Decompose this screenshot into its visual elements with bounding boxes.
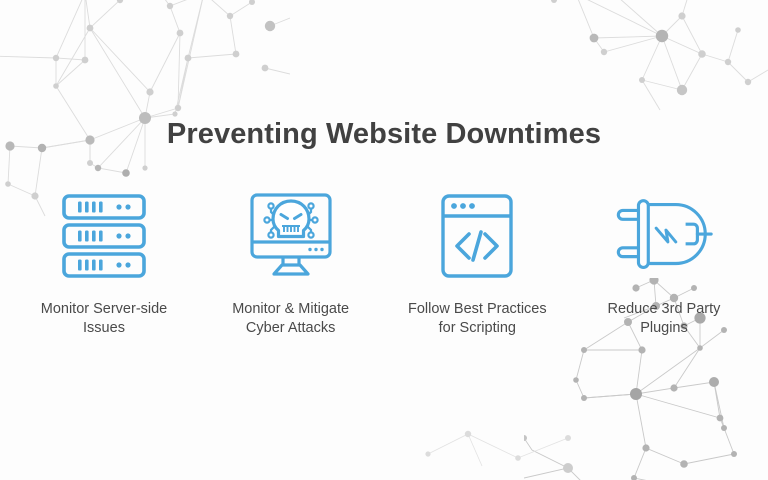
browser-code-window-icon [422, 186, 532, 286]
page-title: Preventing Website Downtimes [0, 118, 768, 151]
server-racks-icon [49, 186, 159, 286]
skull-monitor-cyber-attack-icon [236, 186, 346, 286]
feature-card-monitor-mitigate-cyber-attacks[interactable]: Monitor & Mitigate Cyber Attacks [203, 186, 379, 339]
feature-card-label: Monitor Server-side Issues [41, 300, 168, 339]
feature-card-label: Follow Best Practices for Scripting [408, 300, 547, 339]
feature-card-label: Monitor & Mitigate Cyber Attacks [232, 300, 349, 339]
feature-card-follow-best-practices-for-scripting[interactable]: Follow Best Practices for Scripting [389, 186, 565, 339]
feature-card-reduce-3rd-party-plugins[interactable]: Reduce 3rd Party Plugins [576, 186, 752, 339]
feature-card-row: Monitor Server-side Issues [16, 186, 752, 339]
slide-canvas: Preventing Website Downtimes [0, 0, 768, 480]
network-pattern-top-right [542, 0, 768, 190]
feature-card-label: Reduce 3rd Party Plugins [608, 300, 721, 339]
feature-card-monitor-server-side-issues[interactable]: Monitor Server-side Issues [16, 186, 192, 339]
electric-plug-icon [609, 186, 719, 286]
network-pattern-mid-right [408, 354, 588, 474]
